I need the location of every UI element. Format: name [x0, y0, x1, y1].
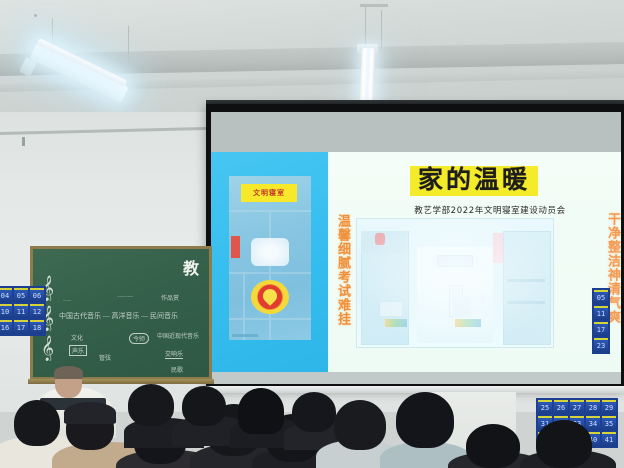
poster-image: 文明寝室	[229, 176, 311, 340]
audience-head	[334, 400, 386, 450]
blackboard-line: 交响乐	[165, 349, 183, 359]
slide-right-panel: 家的温暖 教艺学部2022年文明寝室建设动员会 温馨细腻考试难挂 干净整洁神清气…	[328, 152, 621, 372]
seat-number-cell[interactable]: 12	[30, 304, 44, 318]
blackboard: 教 𝄞 𝄞 𝄞 中国古代音乐 — 高洋音乐 — 民间音乐 作品赏 今师 中国近现…	[33, 249, 209, 377]
seat-number-board-right-upper[interactable]: 05 11 17 23	[592, 288, 610, 354]
seat-number-row: 16 17 18	[0, 319, 45, 335]
blackboard-line: 中国近现代音乐	[157, 331, 199, 340]
blackboard-line: 民歌	[171, 365, 183, 374]
seat-number-cell[interactable]: 34	[586, 416, 600, 430]
seat-number-row: 11	[593, 305, 609, 321]
seat-number-cell[interactable]: 35	[602, 416, 616, 430]
seat-number-cell[interactable]: 41	[602, 432, 616, 446]
audience-head-long-hair	[238, 388, 284, 434]
seat-number-row: 23	[593, 337, 609, 353]
seat-number-cell[interactable]: 28	[586, 400, 600, 414]
seat-number-cell[interactable]: 18	[30, 320, 44, 334]
ceiling-mount	[34, 14, 37, 17]
seat-number-cell[interactable]: 10	[0, 304, 12, 318]
slide-subtitle: 教艺学部2022年文明寝室建设动员会	[390, 204, 590, 216]
seat-number-cell[interactable]: 05	[594, 290, 608, 304]
poster-footer-mark	[232, 334, 258, 337]
teacher-hair	[54, 366, 83, 379]
audience-head	[396, 392, 454, 448]
seat-number-cell[interactable]: 17	[14, 320, 28, 334]
seat-number-cell[interactable]: 27	[570, 400, 584, 414]
poster-red-tab	[231, 236, 240, 258]
treble-clef-icon: 𝄞	[41, 337, 54, 359]
light-wire	[381, 10, 382, 50]
projector-screen-surface: 文明寝室 家的温暖 教艺学部2022年文明寝室建设动员会 温馨细腻考试难挂 干净…	[211, 112, 621, 384]
seat-number-row: 10 11 12	[0, 303, 45, 319]
audience-head	[536, 420, 592, 468]
seat-number-row: 17	[593, 321, 609, 337]
blackboard-line: 中国古代音乐 — 高洋音乐 — 民间音乐	[59, 311, 178, 321]
seat-number-cell[interactable]: 06	[30, 288, 44, 302]
blackboard-line: 声乐	[69, 345, 87, 356]
slide-vertical-text-left: 温馨细腻考试难挂	[331, 214, 349, 326]
blackboard-line: 文化	[71, 333, 83, 342]
poster-banner-label: 文明寝室	[241, 184, 297, 202]
blackboard-line: 今师	[129, 333, 149, 344]
seat-number-cell[interactable]: 17	[594, 322, 608, 336]
slide-left-panel: 文明寝室	[211, 152, 328, 372]
seat-number-cell[interactable]: 04	[0, 288, 12, 302]
seat-number-board-left[interactable]: 04 05 06 10 11 12 16 17 18	[0, 286, 46, 336]
dormitory-photo	[356, 218, 554, 348]
audience-head	[182, 386, 226, 426]
audience-head	[292, 392, 336, 432]
classroom-scene: 文明寝室 家的温暖 教艺学部2022年文明寝室建设动员会 温馨细腻考试难挂 干净…	[0, 0, 624, 468]
blackboard-line: 作品赏	[161, 293, 179, 302]
seat-number-cell[interactable]: 16	[0, 320, 12, 334]
slide-title: 家的温暖	[410, 166, 538, 196]
audience-head	[14, 400, 60, 446]
poster-white-shape	[251, 238, 289, 266]
blackboard-line: 管弦	[99, 353, 111, 362]
seat-number-row: 05	[593, 289, 609, 305]
seat-number-cell[interactable]: 23	[594, 338, 608, 352]
blackboard-heading: 教	[183, 255, 199, 279]
presentation-slide: 文明寝室 家的温暖 教艺学部2022年文明寝室建设动员会 温馨细腻考试难挂 干净…	[211, 152, 621, 372]
seat-number-cell[interactable]: 26	[554, 400, 568, 414]
seat-number-cell[interactable]: 29	[602, 400, 616, 414]
seat-number-cell[interactable]: 25	[538, 400, 552, 414]
light-wire	[128, 26, 129, 68]
wall-hook	[22, 137, 25, 146]
seat-number-cell[interactable]: 11	[14, 304, 28, 318]
audience-cap-icon	[64, 402, 116, 424]
seat-number-row: 04 05 06	[0, 287, 45, 303]
seat-number-cell[interactable]: 11	[594, 306, 608, 320]
poster-heart-badge-icon	[251, 280, 289, 314]
audience-head	[466, 424, 520, 468]
seat-number-row: 25 26 27 28 29	[537, 399, 617, 415]
audience-head	[128, 384, 174, 426]
seat-number-cell[interactable]: 05	[14, 288, 28, 302]
